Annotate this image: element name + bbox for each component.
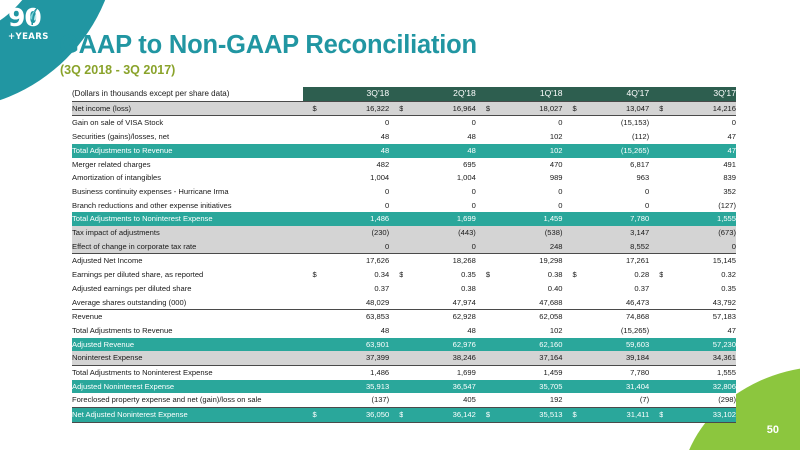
row-value: 0	[317, 185, 389, 199]
row-value: 192	[490, 393, 562, 407]
row-currency-symbol	[476, 212, 490, 226]
row-currency-symbol	[563, 116, 577, 130]
table-row: Net income (loss)$16,322$16,964$18,027$1…	[72, 101, 736, 116]
table-header-row: (Dollars in thousands except per share d…	[72, 87, 736, 101]
row-value: 74,868	[577, 310, 649, 324]
row-currency-symbol	[389, 240, 403, 254]
row-value: 33,102	[663, 408, 736, 423]
row-value: 62,058	[490, 310, 562, 324]
row-currency-symbol	[563, 185, 577, 199]
row-value: 18,027	[490, 101, 562, 116]
row-value: 18,268	[403, 254, 475, 268]
table-head: (Dollars in thousands except per share d…	[72, 87, 736, 101]
row-value: (538)	[490, 226, 562, 240]
table-row: Business continuity expenses - Hurricane…	[72, 185, 736, 199]
row-currency-symbol	[476, 226, 490, 240]
row-currency-symbol: $	[563, 408, 577, 423]
row-label: Net Adjusted Noninterest Expense	[72, 408, 303, 423]
row-value: 48	[403, 324, 475, 338]
row-currency-symbol	[476, 310, 490, 324]
row-currency-symbol	[303, 282, 317, 296]
row-currency-symbol	[303, 380, 317, 394]
row-currency-symbol	[649, 296, 663, 310]
row-value: 1,699	[403, 212, 475, 226]
row-currency-symbol	[389, 324, 403, 338]
row-currency-symbol: $	[389, 408, 403, 423]
row-value: 0.32	[663, 268, 736, 282]
row-currency-symbol	[649, 240, 663, 254]
row-value: 7,780	[577, 212, 649, 226]
row-value: (443)	[403, 226, 475, 240]
column-header-3: 4Q'17	[577, 87, 649, 101]
row-value: 0	[403, 185, 475, 199]
reconciliation-table: (Dollars in thousands except per share d…	[72, 87, 736, 423]
row-currency-symbol	[563, 226, 577, 240]
row-currency-symbol	[563, 171, 577, 185]
row-currency-symbol	[563, 199, 577, 213]
column-header-2: 1Q'18	[490, 87, 562, 101]
row-label: Merger related charges	[72, 158, 303, 172]
table-row: Merger related charges4826954706,817491	[72, 158, 736, 172]
row-currency-symbol	[303, 144, 317, 158]
row-currency-symbol	[649, 254, 663, 268]
row-currency-symbol	[303, 171, 317, 185]
table-row: Average shares outstanding (000)48,02947…	[72, 296, 736, 310]
row-value: (15,153)	[577, 116, 649, 130]
row-value: 482	[317, 158, 389, 172]
row-value: 352	[663, 185, 736, 199]
row-value: 39,184	[577, 351, 649, 365]
row-currency-symbol	[389, 116, 403, 130]
row-value: 57,230	[663, 338, 736, 352]
row-label: Total Adjustments to Noninterest Expense	[72, 366, 303, 380]
row-currency-symbol	[303, 338, 317, 352]
row-value: 47,974	[403, 296, 475, 310]
row-currency-symbol	[563, 130, 577, 144]
column-header-4: 3Q'17	[663, 87, 736, 101]
row-currency-symbol	[476, 199, 490, 213]
table-row: Net Adjusted Noninterest Expense$36,050$…	[72, 408, 736, 423]
row-value: 62,976	[403, 338, 475, 352]
row-currency-symbol	[649, 116, 663, 130]
row-value: 16,964	[403, 101, 475, 116]
row-value: 0	[490, 199, 562, 213]
row-label: Average shares outstanding (000)	[72, 296, 303, 310]
row-currency-symbol	[563, 254, 577, 268]
row-value: 48	[317, 324, 389, 338]
row-label: Foreclosed property expense and net (gai…	[72, 393, 303, 407]
stub-header: (Dollars in thousands except per share d…	[72, 87, 303, 101]
row-currency-symbol	[303, 324, 317, 338]
row-currency-symbol	[389, 226, 403, 240]
row-currency-symbol	[649, 366, 663, 380]
row-currency-symbol	[649, 324, 663, 338]
row-currency-symbol: $	[389, 268, 403, 282]
row-value: 35,513	[490, 408, 562, 423]
row-currency-symbol	[563, 351, 577, 365]
row-value: 0	[317, 199, 389, 213]
table-row: Branch reductions and other expense init…	[72, 199, 736, 213]
row-currency-symbol	[476, 144, 490, 158]
row-value: 19,298	[490, 254, 562, 268]
row-value: 1,486	[317, 212, 389, 226]
row-currency-symbol	[389, 366, 403, 380]
row-value: 13,047	[577, 101, 649, 116]
row-value: (673)	[663, 226, 736, 240]
row-currency-symbol	[476, 240, 490, 254]
row-value: (7)	[577, 393, 649, 407]
row-currency-symbol: $	[476, 101, 490, 116]
row-value: 0	[663, 116, 736, 130]
row-currency-symbol	[649, 351, 663, 365]
row-value: 0.37	[317, 282, 389, 296]
table-row: Amortization of intangibles1,0041,004989…	[72, 171, 736, 185]
table-row: Securities (gains)/losses, net4848102(11…	[72, 130, 736, 144]
row-value: 0	[403, 199, 475, 213]
row-value: (15,265)	[577, 144, 649, 158]
row-currency-symbol	[303, 116, 317, 130]
row-currency-symbol	[649, 226, 663, 240]
row-value: 0	[577, 185, 649, 199]
row-value: 102	[490, 324, 562, 338]
row-value: 8,552	[577, 240, 649, 254]
row-value: 0.38	[403, 282, 475, 296]
row-value: 47	[663, 324, 736, 338]
row-label: Securities (gains)/losses, net	[72, 130, 303, 144]
table-row: Total Adjustments to Noninterest Expense…	[72, 366, 736, 380]
row-currency-symbol: $	[563, 268, 577, 282]
row-value: 57,183	[663, 310, 736, 324]
row-value: 0	[663, 240, 736, 254]
table-row: Earnings per diluted share, as reported$…	[72, 268, 736, 282]
row-currency-symbol	[649, 144, 663, 158]
row-value: 0.35	[403, 268, 475, 282]
row-label: Business continuity expenses - Hurricane…	[72, 185, 303, 199]
row-value: 17,626	[317, 254, 389, 268]
row-value: 31,404	[577, 380, 649, 394]
row-currency-symbol: $	[303, 408, 317, 423]
row-value: 47	[663, 144, 736, 158]
table-row: Adjusted Net Income17,62618,26819,29817,…	[72, 254, 736, 268]
row-currency-symbol	[476, 324, 490, 338]
row-currency-symbol	[303, 240, 317, 254]
row-value: 48,029	[317, 296, 389, 310]
row-currency-symbol	[303, 158, 317, 172]
row-currency-symbol	[389, 351, 403, 365]
row-currency-symbol	[303, 199, 317, 213]
row-value: 6,817	[577, 158, 649, 172]
row-value: 31,411	[577, 408, 649, 423]
row-currency-symbol	[649, 185, 663, 199]
row-currency-symbol	[476, 366, 490, 380]
row-value: 17,261	[577, 254, 649, 268]
row-value: 35,913	[317, 380, 389, 394]
row-value: 36,547	[403, 380, 475, 394]
row-currency-symbol	[563, 310, 577, 324]
row-currency-symbol: $	[563, 101, 577, 116]
row-currency-symbol	[303, 310, 317, 324]
row-currency-symbol: $	[389, 101, 403, 116]
row-value: 48	[317, 130, 389, 144]
row-value: 36,142	[403, 408, 475, 423]
row-value: 0.38	[490, 268, 562, 282]
column-header-0: 3Q'18	[317, 87, 389, 101]
row-value: 14,216	[663, 101, 736, 116]
table-body: Net income (loss)$16,322$16,964$18,027$1…	[72, 101, 736, 422]
row-value: 0	[490, 185, 562, 199]
row-value: 38,246	[403, 351, 475, 365]
row-currency-symbol	[563, 380, 577, 394]
row-currency-symbol	[476, 158, 490, 172]
table-row: Adjusted earnings per diluted share0.370…	[72, 282, 736, 296]
row-currency-symbol: $	[649, 101, 663, 116]
row-value: 1,486	[317, 366, 389, 380]
row-currency-symbol	[649, 380, 663, 394]
row-value: 0.28	[577, 268, 649, 282]
row-value: 3,147	[577, 226, 649, 240]
row-value: 43,792	[663, 296, 736, 310]
row-currency-symbol	[476, 393, 490, 407]
row-currency-symbol	[563, 240, 577, 254]
row-label: Total Adjustments to Revenue	[72, 324, 303, 338]
row-value: 695	[403, 158, 475, 172]
table-row: Effect of change in corporate tax rate00…	[72, 240, 736, 254]
row-currency-symbol	[389, 185, 403, 199]
row-currency-symbol	[563, 366, 577, 380]
row-currency-symbol	[563, 158, 577, 172]
row-value: 1,555	[663, 212, 736, 226]
row-currency-symbol	[563, 296, 577, 310]
row-currency-symbol	[389, 296, 403, 310]
row-value: 1,555	[663, 366, 736, 380]
header-currency-spacer-2	[476, 87, 490, 101]
page-title: GAAP to Non-GAAP Reconciliation	[59, 31, 477, 60]
row-value: 248	[490, 240, 562, 254]
page-number: 50	[767, 424, 779, 436]
row-label: Noninterest Expense	[72, 351, 303, 365]
row-value: 63,853	[317, 310, 389, 324]
row-currency-symbol	[476, 185, 490, 199]
row-value: 1,004	[403, 171, 475, 185]
row-value: 16,322	[317, 101, 389, 116]
row-currency-symbol	[303, 366, 317, 380]
row-currency-symbol: $	[303, 268, 317, 282]
row-currency-symbol	[476, 351, 490, 365]
row-currency-symbol	[389, 158, 403, 172]
row-value: 0.40	[490, 282, 562, 296]
header-currency-spacer-1	[389, 87, 403, 101]
row-value: 62,160	[490, 338, 562, 352]
row-currency-symbol	[303, 130, 317, 144]
slide-canvas: 90 +YEARS GAAP to Non-GAAP Reconciliatio…	[0, 0, 800, 450]
row-value: 1,459	[490, 212, 562, 226]
row-label: Revenue	[72, 310, 303, 324]
row-currency-symbol	[563, 144, 577, 158]
row-value: 839	[663, 171, 736, 185]
row-currency-symbol	[649, 158, 663, 172]
row-currency-symbol	[389, 212, 403, 226]
row-label: Amortization of intangibles	[72, 171, 303, 185]
row-value: 34,361	[663, 351, 736, 365]
row-value: 0	[490, 116, 562, 130]
row-value: 32,806	[663, 380, 736, 394]
row-currency-symbol	[563, 212, 577, 226]
row-value: 46,473	[577, 296, 649, 310]
table-row: Revenue63,85362,92862,05874,86857,183	[72, 310, 736, 324]
row-currency-symbol	[649, 282, 663, 296]
row-value: 0	[317, 240, 389, 254]
row-value: 0	[577, 199, 649, 213]
row-label: Tax impact of adjustments	[72, 226, 303, 240]
row-currency-symbol	[476, 116, 490, 130]
feather-icon	[26, 7, 39, 27]
row-value: (112)	[577, 130, 649, 144]
row-value: (298)	[663, 393, 736, 407]
row-value: 0.35	[663, 282, 736, 296]
row-value: (127)	[663, 199, 736, 213]
anniversary-logo: 90 +YEARS	[8, 6, 84, 42]
row-value: 405	[403, 393, 475, 407]
table-row: Total Adjustments to Revenue4848102(15,2…	[72, 144, 736, 158]
row-currency-symbol	[476, 380, 490, 394]
header-currency-spacer-3	[563, 87, 577, 101]
header-currency-spacer-0	[303, 87, 317, 101]
row-value: 0.37	[577, 282, 649, 296]
row-currency-symbol	[649, 199, 663, 213]
row-currency-symbol	[303, 351, 317, 365]
row-value: 470	[490, 158, 562, 172]
row-currency-symbol	[303, 185, 317, 199]
row-value: 63,901	[317, 338, 389, 352]
row-currency-symbol	[303, 393, 317, 407]
row-currency-symbol	[476, 254, 490, 268]
row-value: 15,145	[663, 254, 736, 268]
row-currency-symbol: $	[649, 268, 663, 282]
row-currency-symbol: $	[476, 408, 490, 423]
table-row: Adjusted Noninterest Expense35,91336,547…	[72, 380, 736, 394]
row-value: 48	[403, 130, 475, 144]
row-currency-symbol	[649, 171, 663, 185]
row-label: Effect of change in corporate tax rate	[72, 240, 303, 254]
row-currency-symbol	[389, 282, 403, 296]
row-currency-symbol	[476, 338, 490, 352]
row-currency-symbol	[649, 130, 663, 144]
row-currency-symbol	[476, 282, 490, 296]
row-value: (230)	[317, 226, 389, 240]
row-value: 102	[490, 130, 562, 144]
row-label: Adjusted Noninterest Expense	[72, 380, 303, 394]
row-currency-symbol	[563, 393, 577, 407]
column-header-1: 2Q'18	[403, 87, 475, 101]
row-currency-symbol	[389, 310, 403, 324]
row-value: 0.34	[317, 268, 389, 282]
row-value: 37,164	[490, 351, 562, 365]
logo-years-label: +YEARS	[8, 32, 84, 42]
row-currency-symbol	[303, 254, 317, 268]
table-row: Total Adjustments to Noninterest Expense…	[72, 212, 736, 226]
row-label: Net income (loss)	[72, 101, 303, 116]
row-currency-symbol: $	[303, 101, 317, 116]
table-row: Gain on sale of VISA Stock000(15,153)0	[72, 116, 736, 130]
row-currency-symbol	[389, 171, 403, 185]
row-value: 963	[577, 171, 649, 185]
row-value: 36,050	[317, 408, 389, 423]
row-value: 0	[403, 116, 475, 130]
row-label: Adjusted Net Income	[72, 254, 303, 268]
row-value: 48	[403, 144, 475, 158]
row-value: 62,928	[403, 310, 475, 324]
row-currency-symbol	[303, 296, 317, 310]
row-currency-symbol	[389, 380, 403, 394]
row-value: 48	[317, 144, 389, 158]
row-currency-symbol	[389, 199, 403, 213]
row-currency-symbol	[563, 282, 577, 296]
row-value: 59,603	[577, 338, 649, 352]
row-label: Total Adjustments to Revenue	[72, 144, 303, 158]
row-label: Total Adjustments to Noninterest Expense	[72, 212, 303, 226]
row-label: Adjusted earnings per diluted share	[72, 282, 303, 296]
table-row: Total Adjustments to Revenue4848102(15,2…	[72, 324, 736, 338]
row-currency-symbol	[476, 171, 490, 185]
row-currency-symbol	[563, 338, 577, 352]
row-currency-symbol	[389, 393, 403, 407]
row-value: 0	[403, 240, 475, 254]
row-currency-symbol	[649, 338, 663, 352]
table-row: Adjusted Revenue63,90162,97662,16059,603…	[72, 338, 736, 352]
row-value: 0	[317, 116, 389, 130]
row-currency-symbol	[563, 324, 577, 338]
row-value: 1,699	[403, 366, 475, 380]
row-currency-symbol	[649, 393, 663, 407]
row-value: 1,459	[490, 366, 562, 380]
row-value: 989	[490, 171, 562, 185]
row-currency-symbol	[649, 310, 663, 324]
row-currency-symbol	[389, 144, 403, 158]
row-currency-symbol	[389, 254, 403, 268]
row-currency-symbol	[476, 130, 490, 144]
row-currency-symbol	[649, 212, 663, 226]
row-value: 102	[490, 144, 562, 158]
row-value: 47	[663, 130, 736, 144]
row-currency-symbol	[389, 338, 403, 352]
row-label: Gain on sale of VISA Stock	[72, 116, 303, 130]
table-row: Noninterest Expense37,39938,24637,16439,…	[72, 351, 736, 365]
row-currency-symbol	[303, 212, 317, 226]
row-currency-symbol: $	[476, 268, 490, 282]
table-row: Tax impact of adjustments(230)(443)(538)…	[72, 226, 736, 240]
row-currency-symbol	[303, 226, 317, 240]
row-currency-symbol	[389, 130, 403, 144]
row-value: (137)	[317, 393, 389, 407]
row-label: Adjusted Revenue	[72, 338, 303, 352]
row-value: 7,780	[577, 366, 649, 380]
row-label: Earnings per diluted share, as reported	[72, 268, 303, 282]
row-value: (15,265)	[577, 324, 649, 338]
page-subtitle: (3Q 2018 - 3Q 2017)	[60, 63, 175, 77]
row-currency-symbol: $	[649, 408, 663, 423]
row-value: 37,399	[317, 351, 389, 365]
row-label: Branch reductions and other expense init…	[72, 199, 303, 213]
row-value: 35,705	[490, 380, 562, 394]
row-value: 491	[663, 158, 736, 172]
row-currency-symbol	[476, 296, 490, 310]
table-row: Foreclosed property expense and net (gai…	[72, 393, 736, 407]
header-currency-spacer-4	[649, 87, 663, 101]
row-value: 1,004	[317, 171, 389, 185]
row-value: 47,688	[490, 296, 562, 310]
